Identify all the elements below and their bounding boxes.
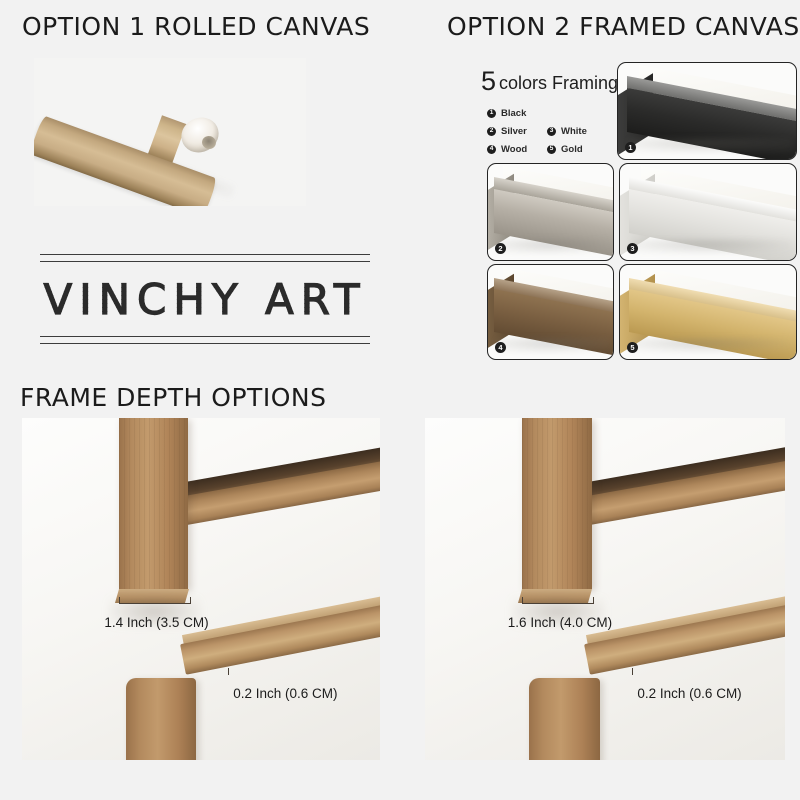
legend-badge-2: 2 [487,127,496,136]
frame-stile [522,418,592,589]
tile-badge-5: 5 [627,342,638,353]
infographic-page: OPTION 1 ROLLED CANVAS VINCHY ART OPTION… [0,0,800,800]
depth-dimension-label: 1.6 Inch (4.0 CM) [508,615,612,630]
depth-photo-left: 1.4 Inch (3.5 CM) 0.2 Inch (0.6 CM) [22,418,380,760]
frame-stile [119,418,189,589]
tile-badge-4: 4 [495,342,506,353]
color-legend: 1 Black 2 Silver 3 White 4 Wood 5 Gold [487,108,607,162]
rolled-canvas-end [176,114,223,157]
frame-tile-white[interactable]: 3 [619,163,797,261]
legend-row: 1 Black [487,108,607,119]
framing-label: colors Framing [499,73,618,93]
option2-heading: OPTION 2 FRAMED CANVAS [447,12,800,41]
legend-label-2: Silver [501,126,527,137]
legend-label-5: Gold [561,144,583,155]
depth-measure-line [119,603,190,604]
tile-badge-1: 1 [625,142,636,153]
frame-shadow [629,138,793,153]
edge-dimension-label: 0.2 Inch (0.6 CM) [637,686,741,701]
logo-rule-top-2 [40,261,370,262]
frame-tile-wood[interactable]: 4 [487,264,614,360]
legend-item-wood: 4 Wood [487,144,547,155]
legend-item-silver: 2 Silver [487,126,547,137]
legend-item-black: 1 Black [487,108,547,119]
depth-measure-tick-left [522,597,523,604]
legend-row: 4 Wood 5 Gold [487,144,607,155]
brand-name: VINCHY ART [40,275,370,324]
frame-tile-silver[interactable]: 2 [487,163,614,261]
depth-measure-tick-left [119,597,120,604]
frame-tile-gold[interactable]: 5 [619,264,797,360]
logo-rule-top-1 [40,254,370,255]
framing-caption: 5colors Framing [481,66,618,97]
frame-stile-lower [126,678,196,760]
legend-label-4: Wood [501,144,527,155]
frame-tile-black[interactable]: 1 [617,62,797,160]
brand-logo: VINCHY ART [40,246,370,350]
lower-rail [584,601,785,674]
frame-stile-lower [529,678,599,760]
depth-photo-right: 1.6 Inch (4.0 CM) 0.2 Inch (0.6 CM) [425,418,785,760]
depth-measure-line [522,603,593,604]
legend-label-1: Black [501,108,526,119]
rolled-canvas-photo [34,58,306,206]
legend-badge-5: 5 [547,145,556,154]
logo-rule-bottom-1 [40,336,370,337]
edge-measure-tick [632,668,633,675]
frame-shadow [631,239,793,254]
tile-badge-2: 2 [495,243,506,254]
legend-badge-1: 1 [487,109,496,118]
legend-row: 2 Silver 3 White [487,126,607,137]
depth-measure-tick-right [190,597,191,604]
legend-badge-3: 3 [547,127,556,136]
edge-measure-tick [228,668,229,675]
option1-heading: OPTION 1 ROLLED CANVAS [22,12,370,41]
frame-shadow [496,338,611,353]
depth-dimension-label: 1.4 Inch (3.5 CM) [104,615,208,630]
frame-shadow [631,338,793,353]
legend-badge-4: 4 [487,145,496,154]
frame-depth-heading: FRAME DEPTH OPTIONS [20,383,326,412]
edge-dimension-label: 0.2 Inch (0.6 CM) [233,686,337,701]
legend-item-white: 3 White [547,126,607,137]
depth-measure-tick-right [593,597,594,604]
frame-shadow [496,239,611,254]
tile-badge-3: 3 [627,243,638,254]
lower-rail [180,602,380,675]
legend-item-gold: 5 Gold [547,144,607,155]
framing-count: 5 [481,66,496,96]
logo-rule-bottom-2 [40,343,370,344]
legend-label-3: White [561,126,587,137]
